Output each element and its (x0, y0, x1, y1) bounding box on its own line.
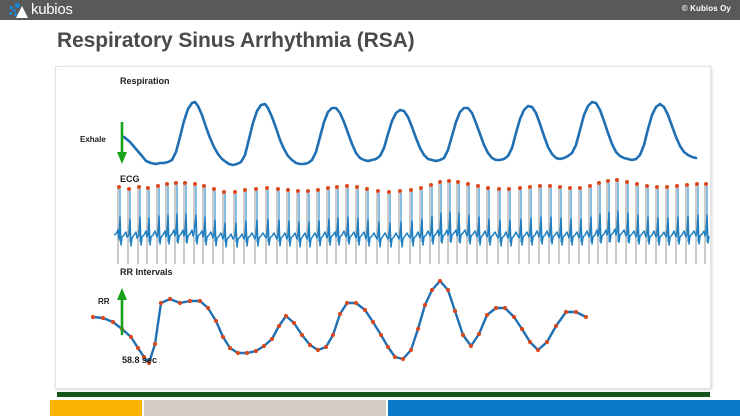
footer-block-beige (144, 400, 386, 416)
ecg-plot (114, 178, 709, 264)
respiration-trace (124, 102, 696, 165)
exhale-arrow-icon (117, 122, 127, 164)
rr-markers (91, 279, 588, 365)
respiration-plot (124, 102, 696, 165)
rr-intervals-plot (91, 279, 588, 365)
rsa-figure (56, 67, 710, 388)
rr-arrow-icon (117, 288, 127, 335)
footer-block-yellow (50, 400, 142, 416)
page-title: Respiratory Sinus Arrhythmia (RSA) (57, 29, 415, 53)
duration-label: 58.8 sec (122, 355, 157, 365)
exhale-axis-label: Exhale (80, 135, 106, 144)
footer-color-blocks (0, 400, 740, 416)
app-header-bar: kubios © Kubios Oy (0, 0, 740, 20)
footer-block-blue (388, 400, 740, 416)
ecg-label: ECG (120, 174, 140, 184)
kubios-dots-logo-icon (8, 2, 30, 18)
kubios-logo[interactable]: kubios (8, 1, 73, 19)
rr-trace (93, 281, 586, 363)
copyright-notice: © Kubios Oy (682, 4, 731, 13)
respiration-label: Respiration (120, 76, 170, 86)
rr-intervals-label: RR Intervals (120, 267, 173, 277)
footer-rule (57, 392, 710, 397)
logo-wordmark: kubios (31, 2, 73, 18)
figure-panel: Respiration ECG RR Intervals Exhale RR 5… (55, 66, 711, 389)
rr-axis-label: RR (98, 297, 110, 306)
